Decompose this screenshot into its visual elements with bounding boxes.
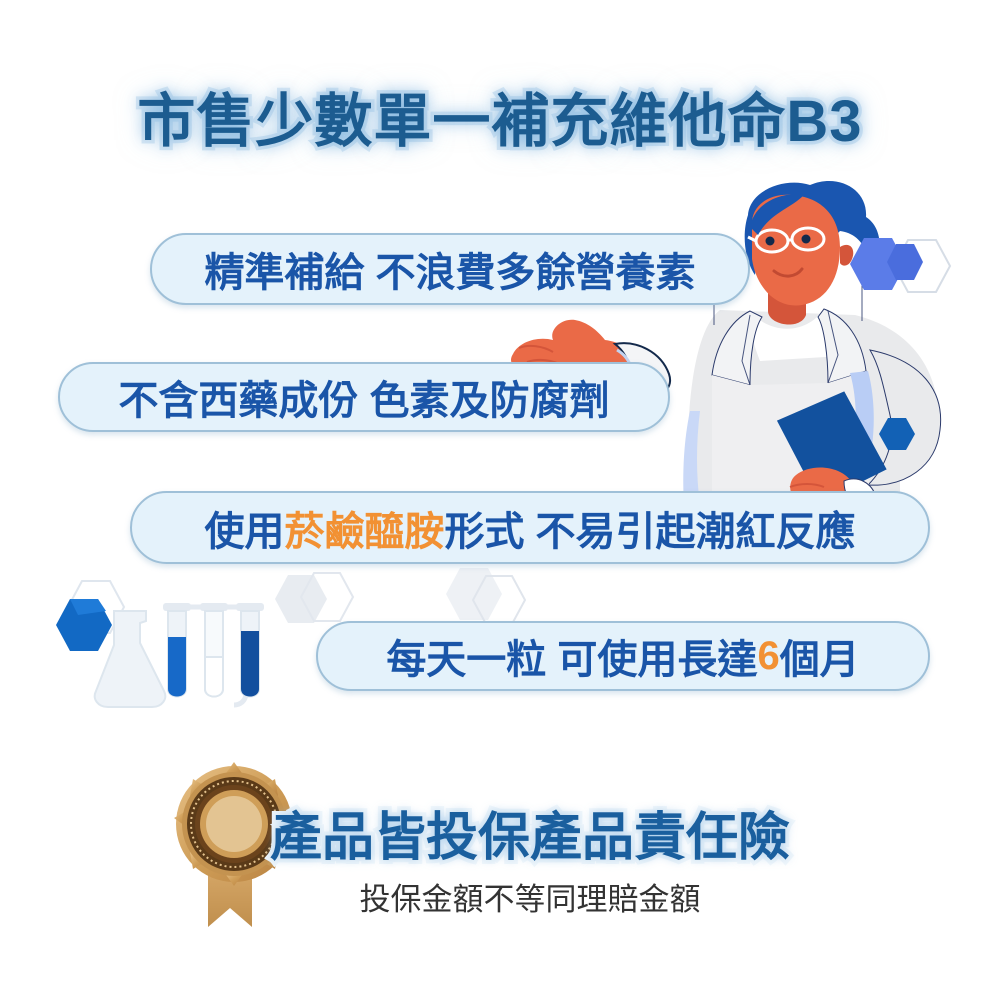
feature-text: 精準補給 不浪費多餘營養素 (204, 240, 695, 298)
feature-text-part: 個月 (780, 627, 860, 685)
feature-text: 不含西藥成份 色素及防腐劑 (118, 368, 609, 426)
feature-text-part: 每天一粒 可使用長達 (386, 627, 757, 685)
hexagon-decoration (840, 220, 1000, 500)
feature-text-part: 形式 不易引起潮紅反應 (444, 499, 855, 557)
feature-pill-niacinamide-form: 使用菸鹼醯胺形式 不易引起潮紅反應 (130, 491, 930, 564)
feature-pill-six-month-supply: 每天一粒 可使用長達6個月 (316, 621, 930, 691)
feature-pill-precise-supplement: 精準補給 不浪費多餘營養素 (150, 233, 750, 305)
page-title: 市售少數單一補充維他命B3 (0, 74, 1000, 158)
feature-text-highlight: 菸鹼醯胺 (284, 499, 444, 557)
feature-pill-no-western-medicine: 不含西藥成份 色素及防腐劑 (58, 362, 670, 432)
guarantee-subtitle: 投保金額不等同理賠金額 (180, 874, 880, 919)
feature-text-part: 使用 (204, 499, 284, 557)
guarantee-title: 產品皆投保產品責任險 (180, 795, 880, 870)
feature-text-highlight: 6 (757, 634, 779, 679)
infographic-canvas: 市售少數單一補充維他命B3 精準補給 不浪費多餘營養素 不含西藥成份 色素及防腐… (0, 0, 1000, 1000)
